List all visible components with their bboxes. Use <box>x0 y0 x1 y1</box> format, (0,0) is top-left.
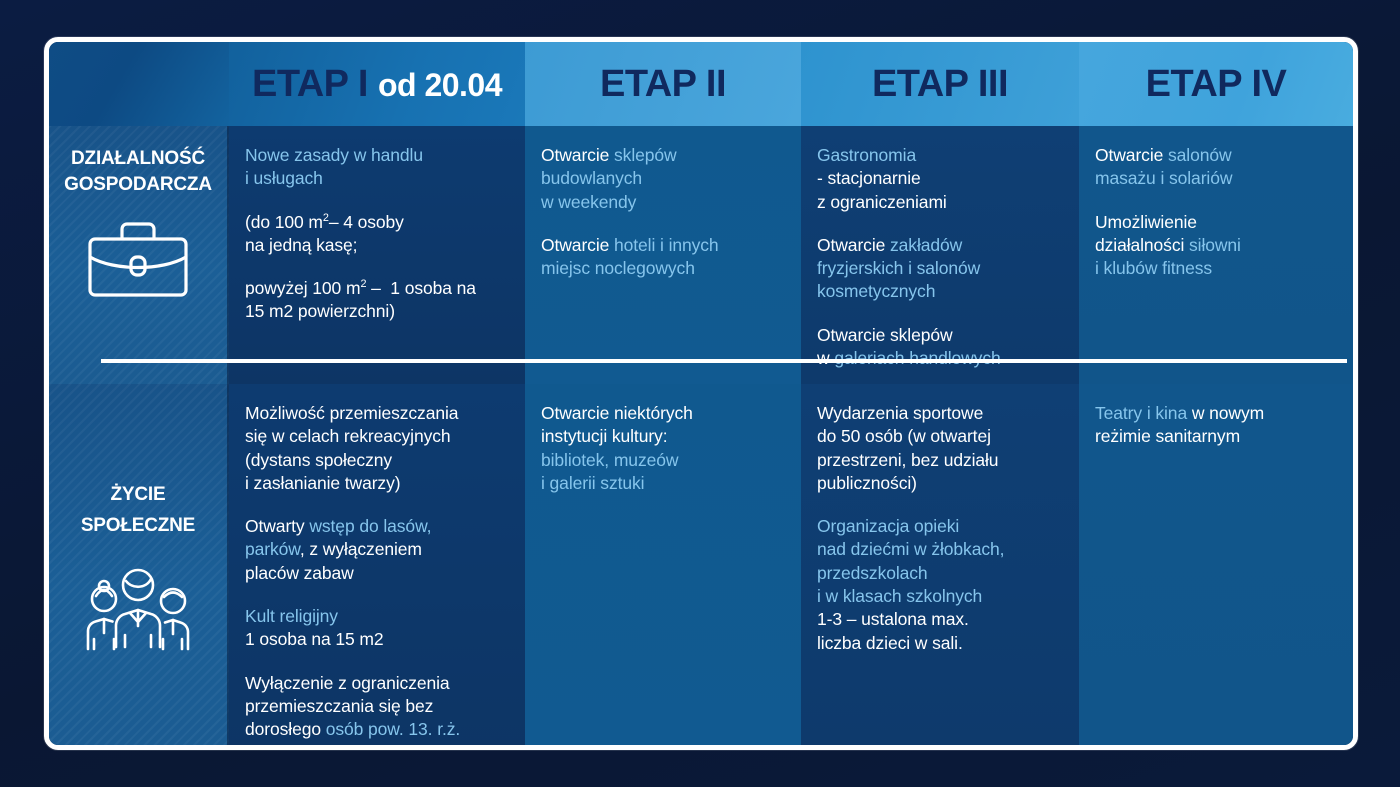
text-run: na jedną kasę; <box>245 235 357 255</box>
briefcase-icon <box>84 213 192 301</box>
text-run: z ograniczeniami <box>817 192 947 212</box>
content-block: Otwarcie zakładówfryzjerskich i salonówk… <box>817 234 1059 304</box>
text-run: publiczności) <box>817 473 917 493</box>
text-run: miejsc noclegowych <box>541 258 695 278</box>
column-title-text: ETAP II <box>600 63 726 106</box>
text-run: Umożliwienie <box>1095 212 1197 232</box>
row-label-line2: SPOŁECZNE <box>81 515 195 537</box>
cell-business-etap-1: Nowe zasady w handlui usługach (do 100 m… <box>229 126 525 384</box>
content-block: Możliwość przemieszczaniasię w celach re… <box>245 402 505 495</box>
text-run: Organizacja opieki <box>817 516 959 536</box>
infographic-stage: ETAP I od 20.04 ETAP II ETAP III ETAP IV <box>0 0 1400 787</box>
cell-business-etap-3: Gastronomia- stacjonarniez ograniczeniam… <box>801 126 1079 384</box>
text-run: i galerii sztuki <box>541 473 644 493</box>
text-run: w weekendy <box>541 192 636 212</box>
text-run: 15 m2 powierzchni) <box>245 301 395 321</box>
text-run: 1-3 – ustalona max. <box>817 609 969 629</box>
text-run: Gastronomia <box>817 145 916 165</box>
text-run: wstęp do lasów, <box>309 516 431 536</box>
schedule-table-frame: ETAP I od 20.04 ETAP II ETAP III ETAP IV <box>44 37 1358 750</box>
text-run: Wyłączenie z ograniczenia <box>245 673 450 693</box>
content-block: Kult religijny1 osoba na 15 m2 <box>245 605 505 652</box>
content-block: Otwarcie niektórychinstytucji kultury:bi… <box>541 402 781 495</box>
text-run: w nowym <box>1192 403 1264 423</box>
row-label-line1: ŻYCIE <box>111 484 166 506</box>
text-run: masażu i solariów <box>1095 168 1232 188</box>
text-run: Otwarcie <box>541 145 614 165</box>
content-block: Otwarcie sklepówbudowlanychw weekendy <box>541 144 781 214</box>
content-block: Wydarzenia sportowedo 50 osób (w otwarte… <box>817 402 1059 495</box>
text-run: budowlanych <box>541 168 642 188</box>
text-run: salonów <box>1168 145 1232 165</box>
text-run: Otwarcie niektórych <box>541 403 693 423</box>
text-run: Otwarcie <box>817 235 890 255</box>
content-block: Gastronomia- stacjonarniez ograniczeniam… <box>817 144 1059 214</box>
text-run: do 50 osób (w otwartej <box>817 426 991 446</box>
cell-social-etap-2: Otwarcie niektórychinstytucji kultury:bi… <box>525 384 801 750</box>
text-run: się w celach rekreacyjnych <box>245 426 451 446</box>
text-run: Otwarcie sklepów <box>817 325 953 345</box>
content-block: Teatry i kina w nowymreżimie sanitarnym <box>1095 402 1333 449</box>
text-run: bibliotek, muzeów <box>541 450 678 470</box>
text-run: fryzjerskich i salonów <box>817 258 980 278</box>
schedule-grid: ETAP I od 20.04 ETAP II ETAP III ETAP IV <box>49 42 1353 745</box>
text-run: zakładów <box>890 235 962 255</box>
text-run: sklepów <box>614 145 677 165</box>
text-run: i usługach <box>245 168 323 188</box>
people-group-icon <box>78 563 198 655</box>
column-header-etap-2[interactable]: ETAP II <box>525 42 801 126</box>
text-run: hoteli i innych <box>614 235 719 255</box>
column-title-text: ETAP IV <box>1146 63 1287 106</box>
text-run: Otwarcie <box>541 235 614 255</box>
column-title: ETAP III <box>872 63 1008 106</box>
column-header-etap-3[interactable]: ETAP III <box>801 42 1079 126</box>
text-run: Teatry i kina <box>1095 403 1192 423</box>
cell-social-etap-3: Wydarzenia sportowedo 50 osób (w otwarte… <box>801 384 1079 750</box>
content-block: Otwarcie sklepóww galeriach handlowych <box>817 324 1059 371</box>
column-title: ETAP II <box>600 63 726 106</box>
text-run: , z wyłączeniem <box>300 539 422 559</box>
cell-business-etap-4: Otwarcie salonówmasażu i solariów Umożli… <box>1079 126 1353 384</box>
text-run: Wydarzenia sportowe <box>817 403 983 423</box>
content-block: Wyłączenie z ograniczeniaprzemieszczania… <box>245 672 505 742</box>
text-run: liczba dzieci w sali. <box>817 633 963 653</box>
header-corner-cell <box>49 42 229 126</box>
text-run: Otwarty <box>245 516 309 536</box>
content-block: (do 100 m2– 4 osobyna jedną kasę; <box>245 211 505 258</box>
text-run: - stacjonarnie <box>817 168 921 188</box>
cell-business-etap-2: Otwarcie sklepówbudowlanychw weekendy Ot… <box>525 126 801 384</box>
text-run: instytucji kultury: <box>541 426 667 446</box>
text-run: Otwarcie <box>1095 145 1168 165</box>
column-title: ETAP IV <box>1146 63 1287 106</box>
text-run: i zasłanianie twarzy) <box>245 473 400 493</box>
text-run: w <box>817 348 834 368</box>
row-label-line2: GOSPODARCZA <box>64 174 212 196</box>
text-run: przemieszczania się bez <box>245 696 433 716</box>
text-run: (do 100 m2– 4 osoby <box>245 212 404 232</box>
column-title-date: od 20.04 <box>378 67 502 104</box>
content-block: Umożliwieniedziałalności siłownii klubów… <box>1095 211 1333 281</box>
text-run: parków <box>245 539 300 559</box>
text-run: placów zabaw <box>245 563 354 583</box>
content-block: Otwarcie salonówmasażu i solariów <box>1095 144 1333 191</box>
row-label-social-life: ŻYCIE SPOŁECZNE <box>49 384 229 750</box>
row-label-business: DZIAŁALNOŚĆ GOSPODARCZA <box>49 126 229 384</box>
content-block: Nowe zasady w handlui usługach <box>245 144 505 191</box>
text-run: przedszkolach <box>817 563 928 583</box>
text-run: galeriach handlowych <box>834 348 1000 368</box>
text-run: powyżej 100 m2 – 1 osoba na <box>245 278 476 298</box>
text-run: i klubów fitness <box>1095 258 1212 278</box>
text-run: przestrzeni, bez udziału <box>817 450 998 470</box>
row-divider <box>101 359 1347 363</box>
content-block: Organizacja opiekinad dziećmi w żłobkach… <box>817 515 1059 655</box>
column-title: ETAP I od 20.04 <box>252 63 502 106</box>
column-header-etap-1[interactable]: ETAP I od 20.04 <box>229 42 525 126</box>
column-title-text: ETAP III <box>872 63 1008 106</box>
content-block: powyżej 100 m2 – 1 osoba na15 m2 powierz… <box>245 277 505 324</box>
text-run: osób pow. 13. r.ż. <box>326 719 460 739</box>
text-run: działalności <box>1095 235 1189 255</box>
text-run: nad dziećmi w żłobkach, <box>817 539 1004 559</box>
text-run: kosmetycznych <box>817 281 935 301</box>
text-run: siłowni <box>1189 235 1241 255</box>
column-title-text: ETAP I <box>252 63 368 106</box>
text-run: reżimie sanitarnym <box>1095 426 1240 446</box>
text-run: Możliwość przemieszczania <box>245 403 458 423</box>
row-label-line1: DZIAŁALNOŚĆ <box>71 148 205 170</box>
text-run: 1 osoba na 15 m2 <box>245 629 384 649</box>
text-run: Nowe zasady w handlu <box>245 145 423 165</box>
cell-social-etap-1: Możliwość przemieszczaniasię w celach re… <box>229 384 525 750</box>
text-run: dorosłego <box>245 719 326 739</box>
text-run: (dystans społeczny <box>245 450 392 470</box>
content-block: Otwarty wstęp do lasów,parków, z wyłącze… <box>245 515 505 585</box>
cell-social-etap-4: Teatry i kina w nowymreżimie sanitarnym <box>1079 384 1353 750</box>
content-block: Otwarcie hoteli i innychmiejsc noclegowy… <box>541 234 781 281</box>
text-run: i w klasach szkolnych <box>817 586 982 606</box>
column-header-etap-4[interactable]: ETAP IV <box>1079 42 1353 126</box>
text-run: Kult religijny <box>245 606 338 626</box>
